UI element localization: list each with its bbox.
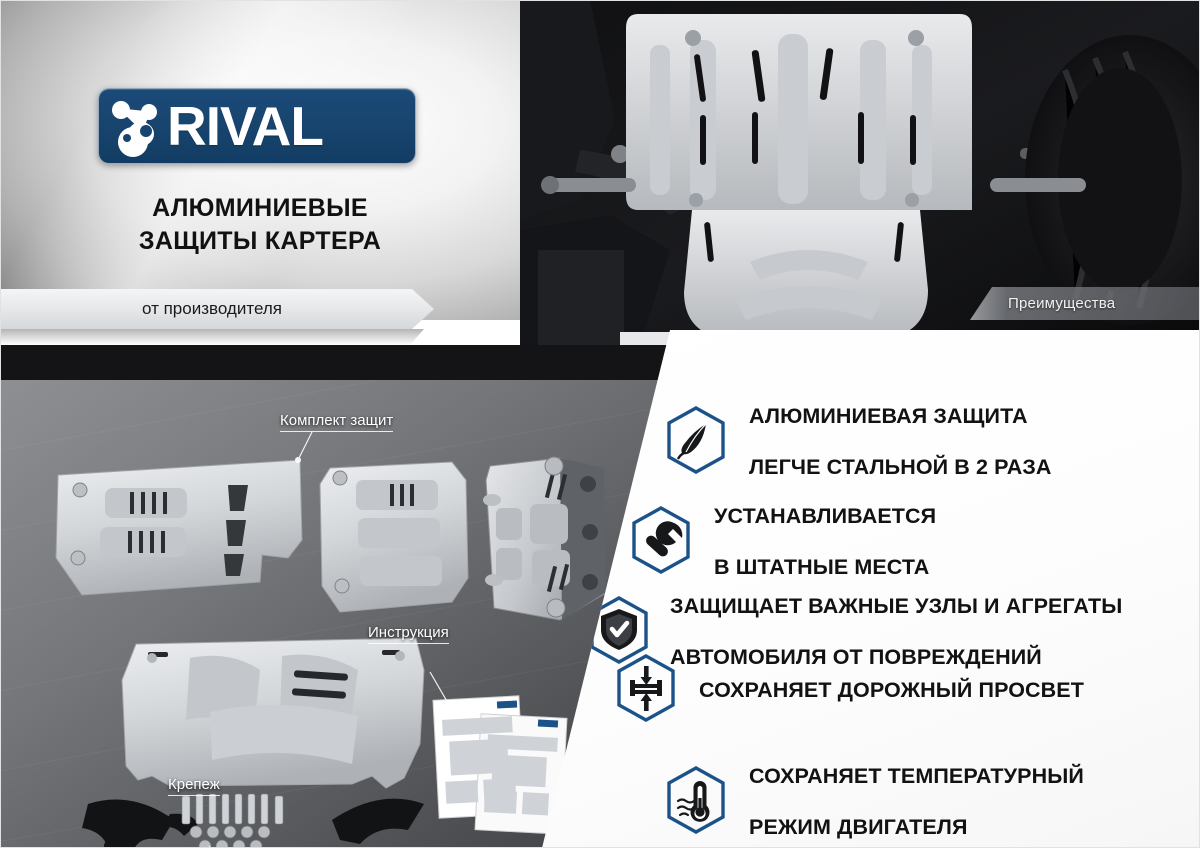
callout-instruction: Инструкция — [368, 624, 449, 644]
callout-hardware: Крепеж — [168, 776, 220, 796]
callout-kit: Комплект защит — [280, 412, 393, 432]
advantage-line-1: СОХРАНЯЕТ ТЕМПЕРАТУРНЫЙ — [749, 764, 1084, 790]
advantage-line-1: ЗАЩИЩАЕТ ВАЖНЫЕ УЗЛЫ И АГРЕГАТЫ — [670, 594, 1122, 620]
rival-logo-text: RIVAL — [167, 99, 323, 154]
molecule-icon — [99, 88, 171, 164]
rival-logo: RIVAL — [98, 88, 416, 164]
advantage-line-2: РЕЖИМ ДВИГАТЕЛЯ — [749, 815, 1084, 841]
subtitle-ribbon-shadow — [0, 329, 440, 345]
thermometer-icon — [665, 765, 727, 840]
advantage-line-1: УСТАНАВЛИВАЕТСЯ — [714, 504, 936, 530]
underbody-photo: Преимущества — [520, 0, 1200, 345]
advantage-text: СОХРАНЯЕТ ТЕМПЕРАТУРНЫЙ РЕЖИМ ДВИГАТЕЛЯ — [749, 738, 1084, 848]
feather-icon — [665, 405, 727, 480]
advantage-text: СОХРАНЯЕТ ДОРОЖНЫЙ ПРОСВЕТ — [699, 652, 1084, 729]
rival-product-banner: RIVAL АЛЮМИНИЕВЫЕ ЗАЩИТЫ КАРТЕРА от прои… — [0, 0, 1200, 848]
advantage-line-1: СОХРАНЯЕТ ДОРОЖНЫЙ ПРОСВЕТ — [699, 678, 1084, 704]
advantage-item-keeps-ground-clearance: СОХРАНЯЕТ ДОРОЖНЫЙ ПРОСВЕТ — [615, 652, 1084, 729]
subtitle-text: от производителя — [0, 289, 424, 329]
page-title: АЛЮМИНИЕВЫЕ ЗАЩИТЫ КАРТЕРА — [60, 192, 460, 258]
advantages-tab: Преимущества — [970, 287, 1200, 320]
advantage-item-keeps-engine-temperature: СОХРАНЯЕТ ТЕМПЕРАТУРНЫЙ РЕЖИМ ДВИГАТЕЛЯ — [665, 738, 1084, 848]
headline-line-2: ЗАЩИТЫ КАРТЕРА — [60, 225, 460, 258]
advantage-line-1: АЛЮМИНИЕВАЯ ЗАЩИТА — [749, 404, 1052, 430]
headline-line-1: АЛЮМИНИЕВЫЕ — [60, 192, 460, 225]
advantages-tab-label: Преимущества — [1008, 295, 1115, 312]
ground-clearance-icon — [615, 653, 677, 728]
